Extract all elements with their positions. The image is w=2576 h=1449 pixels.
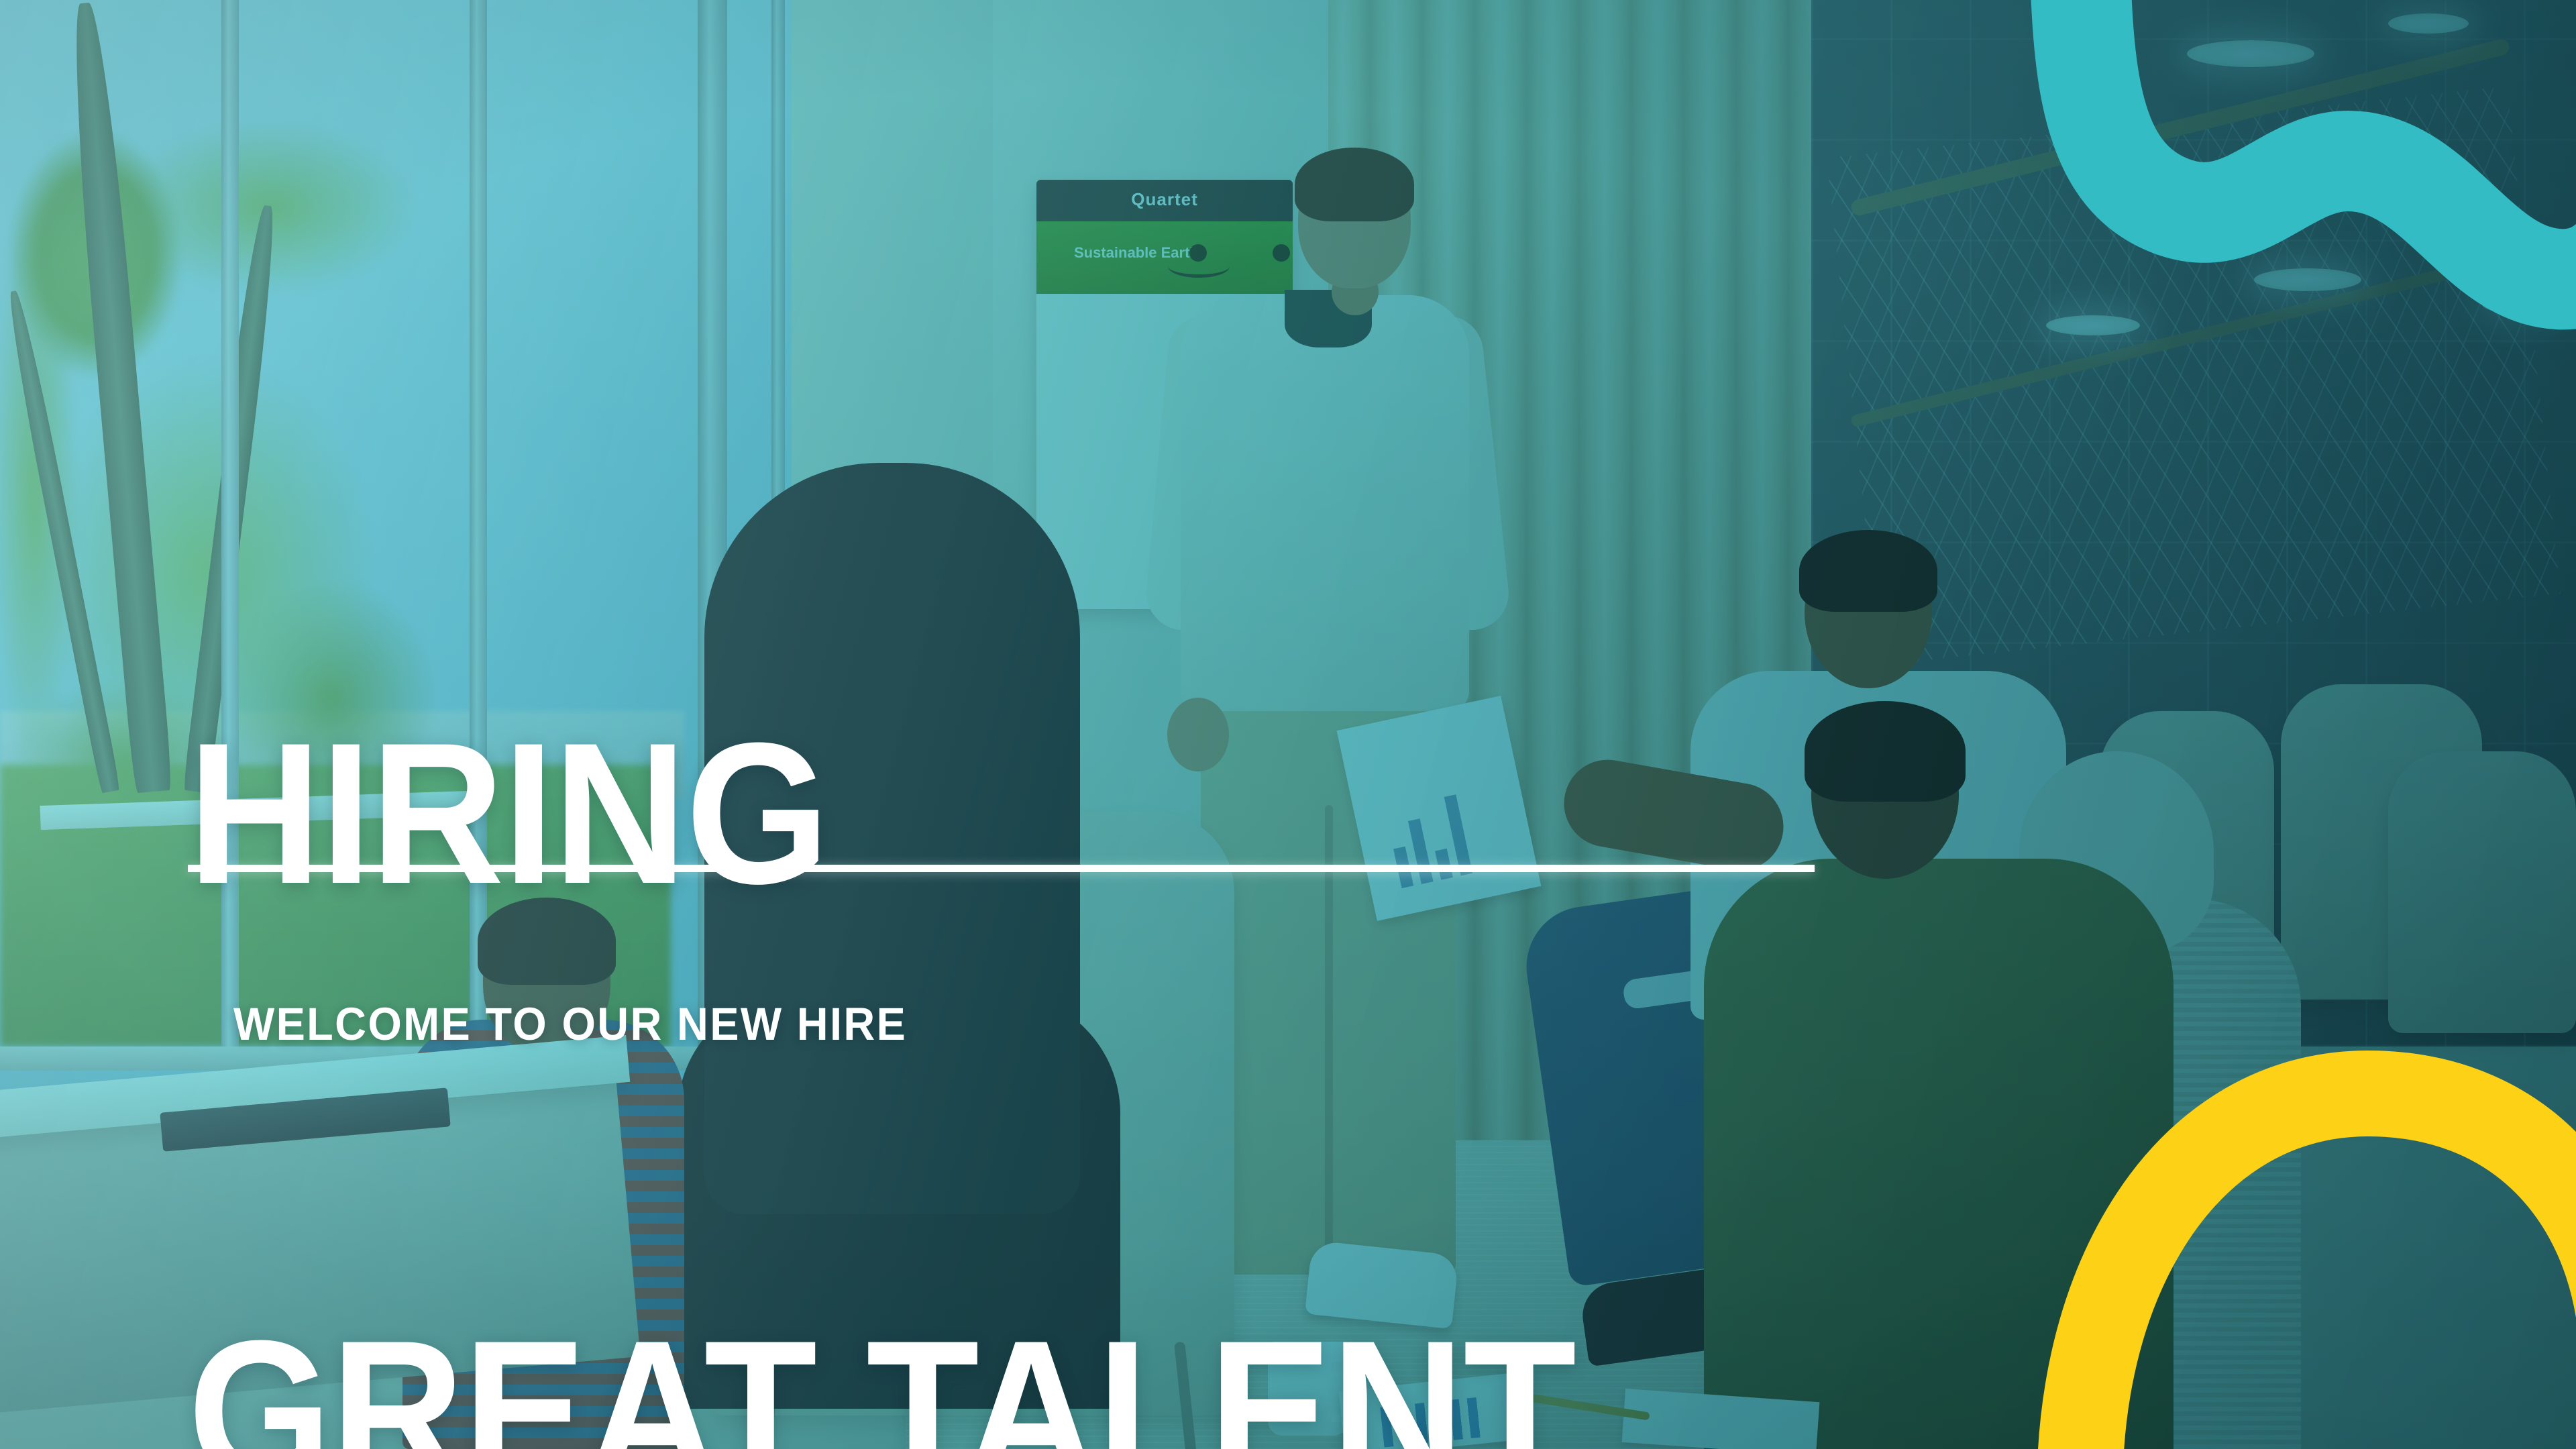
headline-line-1: HIRING [188, 714, 1575, 913]
divider-rule [188, 865, 1815, 872]
subtitle: WELCOME TO OUR NEW HIRE [233, 998, 907, 1051]
hiring-banner: Quartet Sustainable Earth [0, 0, 2576, 1449]
headline-line-2: GREAT TALENT [188, 1311, 1575, 1449]
text-content: HIRING GREAT TALENT WELCOME TO OUR NEW H… [188, 0, 2200, 1449]
page-title: HIRING GREAT TALENT [188, 315, 1575, 1449]
